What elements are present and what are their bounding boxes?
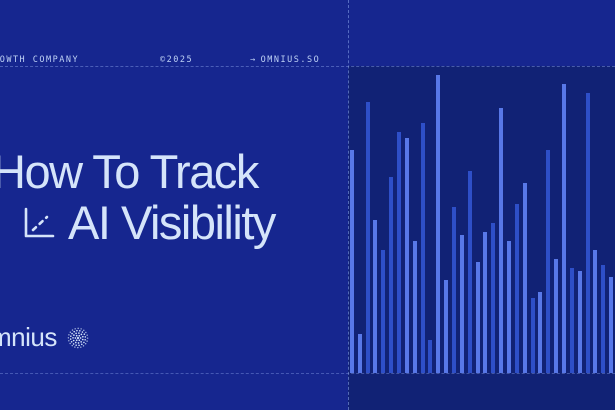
bar-12 [436, 75, 440, 373]
brand-logo[interactable]: mnius [0, 322, 90, 353]
page-title-line-2-row: AI Visibility [22, 199, 352, 248]
bar-25 [538, 292, 542, 373]
bar-5 [381, 250, 385, 373]
bar-7 [397, 132, 401, 373]
logo-wordmark: mnius [0, 322, 57, 353]
bar-9 [413, 241, 417, 373]
bar-34 [609, 277, 613, 373]
bar-17 [476, 262, 480, 373]
bar-31 [586, 93, 590, 373]
bar-4 [373, 220, 377, 374]
page-title: How To Track AI Visibility [0, 148, 352, 248]
arrow-right-icon: → [250, 55, 257, 65]
meta-year-label: ©2025 [160, 55, 250, 65]
page-title-line-1: How To Track [0, 148, 352, 197]
burst-icon [66, 326, 90, 350]
bar-11 [428, 340, 432, 373]
bar-13 [444, 280, 448, 373]
bar-14 [452, 207, 456, 373]
bar-16 [468, 171, 472, 373]
bar-2 [358, 334, 362, 373]
bar-28 [562, 84, 566, 373]
header-meta-row: NIC GROWTH COMPANY ©2025 → OMNIUS.SO [0, 55, 360, 65]
bar-24 [531, 298, 535, 373]
trend-chart-icon [22, 206, 56, 240]
meta-site-label: OMNIUS.SO [261, 55, 321, 65]
bar-chart [348, 66, 615, 373]
bar-22 [515, 204, 519, 373]
bar-18 [483, 232, 487, 373]
bar-6 [389, 177, 393, 373]
bar-30 [578, 271, 582, 373]
slide-canvas: NIC GROWTH COMPANY ©2025 → OMNIUS.SO How… [0, 0, 615, 410]
bar-32 [593, 250, 597, 373]
bar-21 [507, 241, 511, 373]
bar-26 [546, 150, 550, 373]
bar-27 [554, 259, 558, 373]
meta-site-link[interactable]: → OMNIUS.SO [250, 55, 320, 65]
bar-15 [460, 235, 464, 373]
bar-3 [366, 102, 370, 373]
bar-20 [499, 108, 503, 373]
bar-23 [523, 183, 527, 373]
page-title-line-2: AI Visibility [68, 199, 275, 248]
bar-19 [491, 223, 495, 374]
bar-33 [601, 265, 605, 373]
bar-8 [405, 138, 409, 373]
meta-company-label: NIC GROWTH COMPANY [0, 55, 160, 65]
bar-29 [570, 268, 574, 373]
bar-10 [421, 123, 425, 373]
